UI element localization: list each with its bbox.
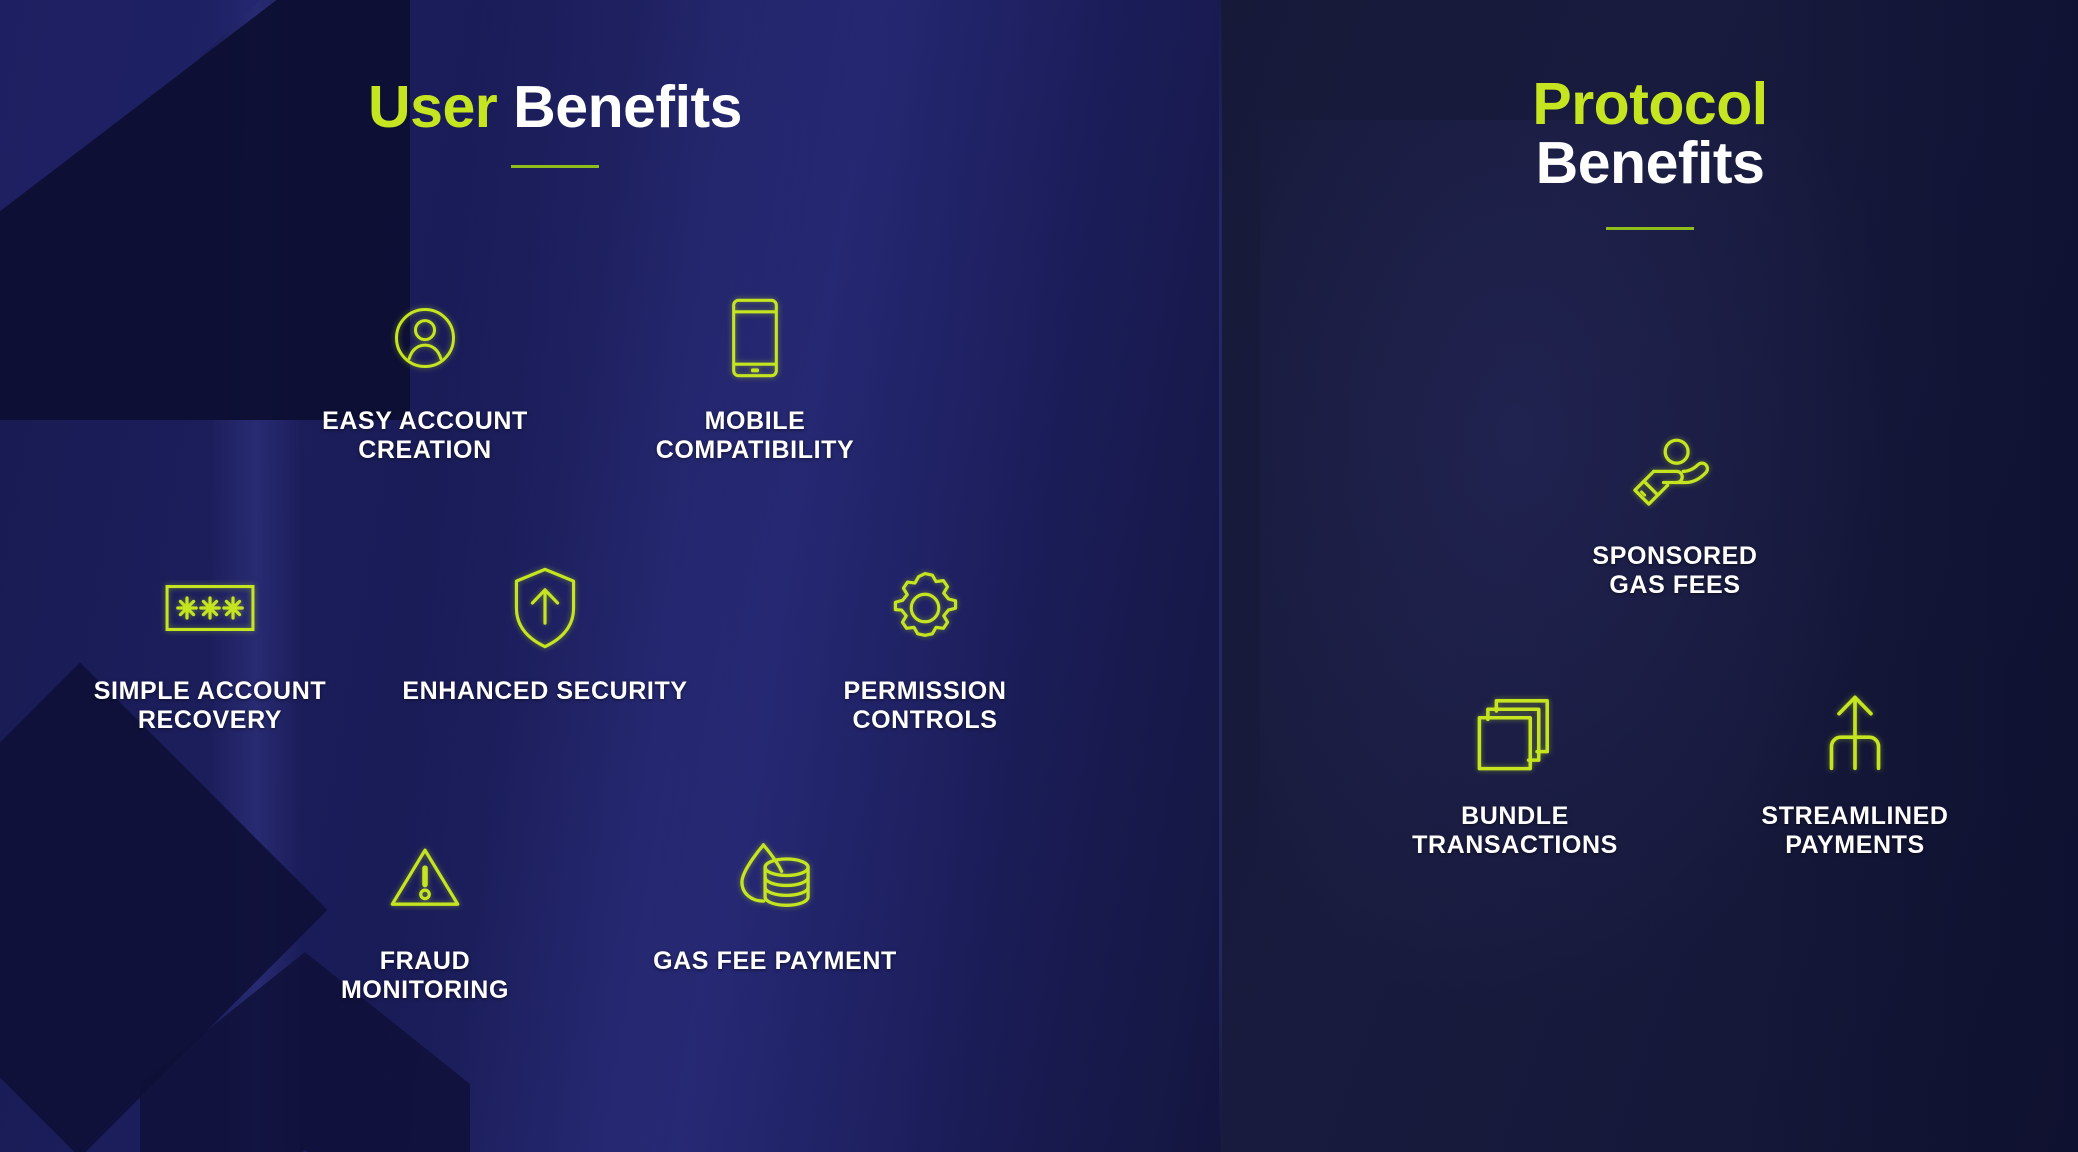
benefit-label: ENHANCED SECURITY (380, 677, 710, 706)
benefit-item-mobile-compatibility: MOBILE COMPATIBILITY (610, 295, 900, 464)
benefit-label: STREAMLINED PAYMENTS (1690, 802, 2020, 859)
droplet-coins-icon (610, 835, 940, 921)
benefit-item-enhanced-security: ENHANCED SECURITY (380, 565, 710, 706)
benefit-item-simple-account-recovery: SIMPLE ACCOUNT RECOVERY (55, 565, 365, 734)
benefit-item-easy-account-creation: EASY ACCOUNT CREATION (280, 295, 570, 464)
merge-arrow-icon (1690, 690, 2020, 776)
heading-underline (1606, 227, 1694, 230)
shield-up-arrow-icon (380, 565, 710, 651)
benefit-item-sponsored-gas-fees: SPONSORED GAS FEES (1510, 430, 1840, 599)
heading-plain-word: Benefits (1440, 134, 1860, 193)
heading-plain-word: Benefits (513, 74, 742, 140)
user-benefits-title: User Benefits (295, 78, 815, 137)
benefit-item-fraud-monitoring: FRAUD MONITORING (280, 835, 570, 1004)
benefit-item-streamlined-payments: STREAMLINED PAYMENTS (1690, 690, 2020, 859)
smartphone-icon (610, 295, 900, 381)
hand-coin-icon (1510, 430, 1840, 516)
benefit-label: PERMISSION CONTROLS (780, 677, 1070, 734)
benefit-label: MOBILE COMPATIBILITY (610, 407, 900, 464)
benefit-item-permission-controls: PERMISSION CONTROLS (780, 565, 1070, 734)
benefit-label: GAS FEE PAYMENT (610, 947, 940, 976)
protocol-benefits-heading: Protocol Benefits (1440, 75, 1860, 230)
benefit-item-bundle-transactions: BUNDLE TRANSACTIONS (1355, 690, 1675, 859)
gear-icon (780, 565, 1070, 651)
benefit-item-gas-fee-payment: GAS FEE PAYMENT (610, 835, 940, 976)
benefit-label: FRAUD MONITORING (280, 947, 570, 1004)
password-field-icon (55, 565, 365, 651)
benefit-label: SPONSORED GAS FEES (1510, 542, 1840, 599)
stacked-squares-icon (1355, 690, 1675, 776)
user-circle-icon (280, 295, 570, 381)
benefit-label: EASY ACCOUNT CREATION (280, 407, 570, 464)
benefit-label: BUNDLE TRANSACTIONS (1355, 802, 1675, 859)
heading-accent-word: Protocol (1440, 75, 1860, 134)
heading-underline (511, 165, 599, 168)
user-benefits-heading: User Benefits (295, 78, 815, 168)
heading-accent-word: User (368, 74, 497, 140)
warning-triangle-icon (280, 835, 570, 921)
benefit-label: SIMPLE ACCOUNT RECOVERY (55, 677, 365, 734)
